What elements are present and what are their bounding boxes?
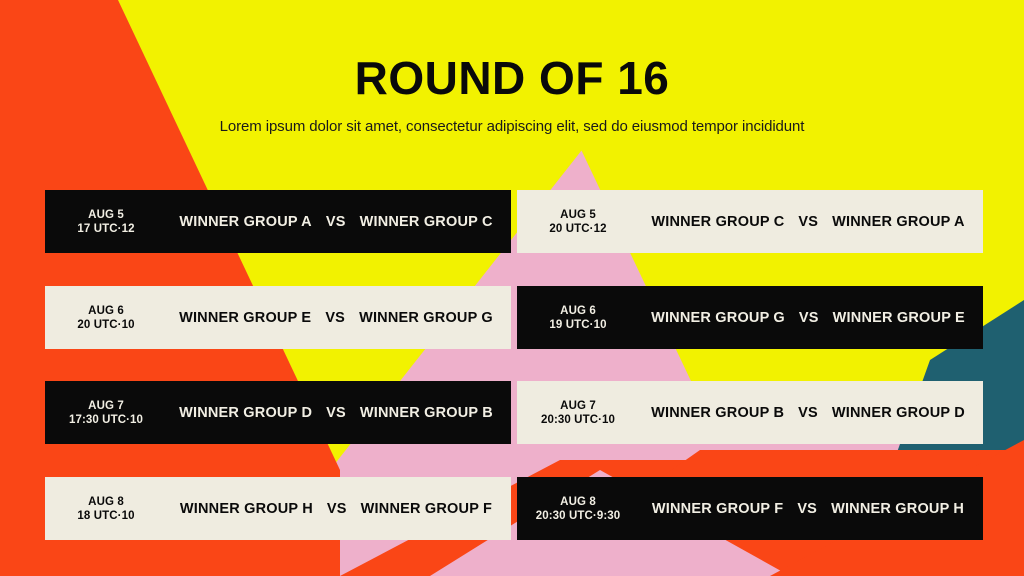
team-home: WINNER GROUP A (179, 214, 312, 230)
vs-label: VS (799, 310, 819, 326)
team-home: WINNER GROUP D (179, 405, 312, 421)
team-home: WINNER GROUP H (180, 501, 313, 517)
match-date: AUG 6 (45, 304, 167, 318)
match-schedule: AUG 7 20:30 UTC·10 (517, 399, 639, 427)
team-away: WINNER GROUP E (833, 310, 965, 326)
match-time: 20:30 UTC·9:30 (517, 509, 639, 523)
vs-label: VS (798, 405, 818, 421)
page-title: ROUND OF 16 (0, 52, 1024, 104)
team-away: WINNER GROUP F (361, 501, 492, 517)
vs-label: VS (797, 501, 817, 517)
match-time: 20 UTC·10 (45, 318, 167, 332)
match-row[interactable]: AUG 5 17 UTC·12 WINNER GROUP A VS WINNER… (45, 190, 511, 253)
match-row[interactable]: AUG 8 18 UTC·10 WINNER GROUP H VS WINNER… (45, 477, 511, 540)
team-away: WINNER GROUP H (831, 501, 964, 517)
match-date: AUG 6 (517, 304, 639, 318)
match-row[interactable]: AUG 7 17:30 UTC·10 WINNER GROUP D VS WIN… (45, 381, 511, 444)
team-away: WINNER GROUP G (359, 310, 493, 326)
match-date: AUG 8 (517, 495, 639, 509)
match-schedule: AUG 6 20 UTC·10 (45, 304, 167, 332)
page-subtitle: Lorem ipsum dolor sit amet, consectetur … (0, 117, 1024, 137)
vs-label: VS (327, 501, 347, 517)
team-away: WINNER GROUP D (832, 405, 965, 421)
match-date: AUG 8 (45, 495, 167, 509)
match-teams: WINNER GROUP F VS WINNER GROUP H (639, 501, 983, 517)
vs-label: VS (326, 214, 346, 230)
match-teams: WINNER GROUP C VS WINNER GROUP A (639, 214, 983, 230)
match-teams: WINNER GROUP B VS WINNER GROUP D (639, 405, 983, 421)
match-row[interactable]: AUG 6 20 UTC·10 WINNER GROUP E VS WINNER… (45, 286, 511, 349)
match-schedule: AUG 8 18 UTC·10 (45, 495, 167, 523)
team-home: WINNER GROUP E (179, 310, 311, 326)
match-time: 19 UTC·10 (517, 318, 639, 332)
match-schedule: AUG 6 19 UTC·10 (517, 304, 639, 332)
match-time: 18 UTC·10 (45, 509, 167, 523)
vs-label: VS (326, 405, 346, 421)
match-row[interactable]: AUG 5 20 UTC·12 WINNER GROUP C VS WINNER… (517, 190, 983, 253)
match-teams: WINNER GROUP D VS WINNER GROUP B (167, 405, 511, 421)
match-schedule: AUG 5 17 UTC·12 (45, 208, 167, 236)
match-date: AUG 7 (45, 399, 167, 413)
match-time: 20:30 UTC·10 (517, 413, 639, 427)
team-home: WINNER GROUP C (651, 214, 784, 230)
match-teams: WINNER GROUP E VS WINNER GROUP G (167, 310, 511, 326)
match-schedule: AUG 5 20 UTC·12 (517, 208, 639, 236)
match-teams: WINNER GROUP H VS WINNER GROUP F (167, 501, 511, 517)
match-row[interactable]: AUG 8 20:30 UTC·9:30 WINNER GROUP F VS W… (517, 477, 983, 540)
match-date: AUG 5 (45, 208, 167, 222)
match-teams: WINNER GROUP A VS WINNER GROUP C (167, 214, 511, 230)
match-schedule: AUG 8 20:30 UTC·9:30 (517, 495, 639, 523)
team-home: WINNER GROUP F (652, 501, 783, 517)
vs-label: VS (798, 214, 818, 230)
match-row[interactable]: AUG 7 20:30 UTC·10 WINNER GROUP B VS WIN… (517, 381, 983, 444)
vs-label: VS (325, 310, 345, 326)
match-time: 17 UTC·12 (45, 222, 167, 236)
match-row[interactable]: AUG 6 19 UTC·10 WINNER GROUP G VS WINNER… (517, 286, 983, 349)
team-home: WINNER GROUP B (651, 405, 784, 421)
slide-canvas: ROUND OF 16 Lorem ipsum dolor sit amet, … (0, 0, 1024, 576)
match-schedule: AUG 7 17:30 UTC·10 (45, 399, 167, 427)
match-time: 17:30 UTC·10 (45, 413, 167, 427)
team-away: WINNER GROUP B (360, 405, 493, 421)
team-away: WINNER GROUP C (360, 214, 493, 230)
match-date: AUG 7 (517, 399, 639, 413)
match-teams: WINNER GROUP G VS WINNER GROUP E (639, 310, 983, 326)
slide-content: ROUND OF 16 Lorem ipsum dolor sit amet, … (0, 0, 1024, 576)
match-date: AUG 5 (517, 208, 639, 222)
team-home: WINNER GROUP G (651, 310, 785, 326)
bracket-grid: AUG 5 17 UTC·12 WINNER GROUP A VS WINNER… (45, 190, 976, 540)
team-away: WINNER GROUP A (832, 214, 965, 230)
match-time: 20 UTC·12 (517, 222, 639, 236)
